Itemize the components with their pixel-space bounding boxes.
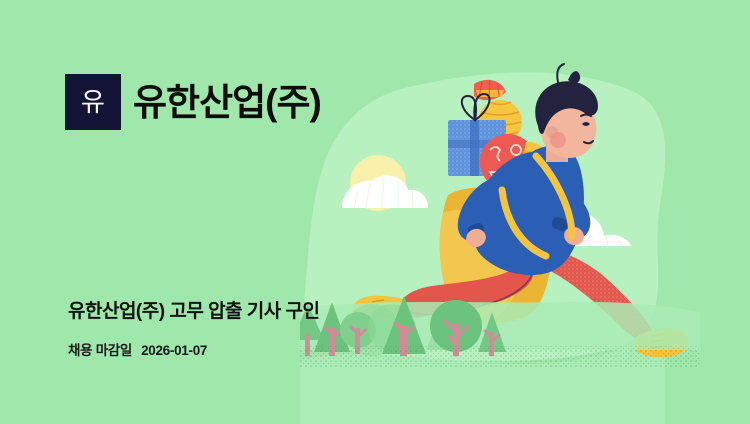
cloud-left-icon [342,175,428,208]
application-deadline: 채용 마감일2026-01-07 [68,339,398,359]
job-title: 유한산업(주) 고무 압출 기사 구인 [68,300,398,325]
company-name: 유한산업(주) [133,84,321,121]
background-blob-svg [0,0,750,424]
company-identity: 유 유한산업(주) [65,74,321,130]
sack-strap [502,156,572,256]
background-blob-layer [0,0,750,424]
runner-head [535,64,598,162]
deadline-value: 2026-01-07 [141,343,207,358]
cloud-right-icon [488,196,631,246]
sun [350,155,406,211]
posting-copy: 유한산업(주) 고무 압출 기사 구인 채용 마감일2026-01-07 [68,300,398,359]
runner-shoes-icon [353,296,688,358]
ball-striped-yellow-small-icon [518,142,550,190]
job-posting-banner: 유 유한산업(주) 유한산업(주) 고무 압출 기사 구인 채용 마감일2026… [0,0,750,424]
runner-hands [464,224,587,250]
runner-legs [400,250,653,342]
ball-striped-yellow-icon [478,100,522,144]
runner-torso [458,146,591,275]
deadline-label: 채용 마감일 [68,343,132,358]
gift-box-icon [448,94,506,176]
company-logo-badge: 유 [65,74,121,130]
gift-sack-icon [400,180,570,340]
ball-patterned-red-icon [480,134,536,190]
tree-round [430,300,482,356]
candy-top-icon [474,80,506,100]
tree-pine [478,312,506,356]
